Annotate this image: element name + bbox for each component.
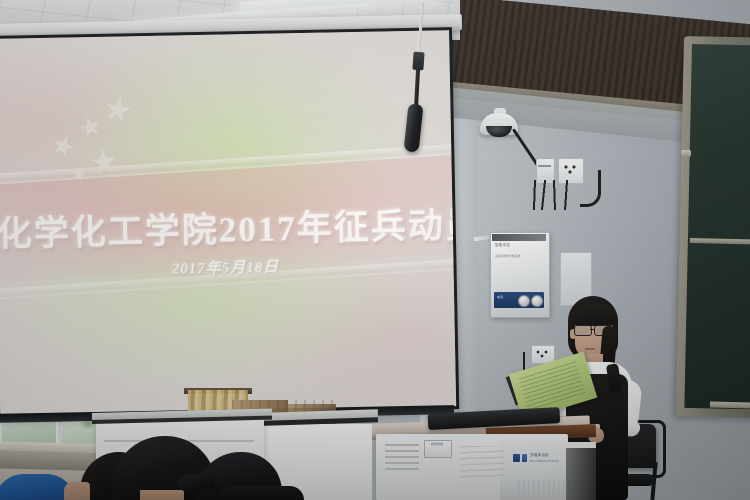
chalk-tray <box>710 401 750 408</box>
panel-header-label: 智能中控 <box>495 243 543 248</box>
photo-scene: 化学化工学院2017年征兵动员会 2017年5月18日 智能中控 多媒体教学控制… <box>0 0 750 500</box>
lectern-vent-left <box>385 444 419 470</box>
speaker-fringe <box>572 304 616 326</box>
handout-text-lines <box>518 361 585 411</box>
junction-box-line <box>538 165 551 167</box>
glasses-lens-left <box>574 325 592 336</box>
lectern-shadow <box>566 448 596 500</box>
lectern-plate-text: 教学终端 <box>425 443 449 447</box>
blackboard-hinge-icon <box>681 150 691 157</box>
lectern-vent-lower <box>518 480 572 498</box>
lectern-logo: 多媒体讲台 MULTIMEDIA PODIUM <box>513 453 565 465</box>
socket-holes-icon <box>564 164 576 174</box>
wire-bundle <box>528 180 586 210</box>
panel-button-label: 电源 <box>497 295 515 299</box>
logo-mark-secondary-icon <box>522 454 527 462</box>
projection-screen: 化学化工学院2017年征兵动员会 2017年5月18日 <box>0 27 459 418</box>
green-blackboard <box>684 44 750 410</box>
lectern-logo-subtext: MULTIMEDIA PODIUM <box>530 460 566 463</box>
projector-glare <box>0 30 456 415</box>
lectern-vent-center <box>460 446 504 480</box>
screen-surface: 化学化工学院2017年征兵动员会 2017年5月18日 <box>0 30 456 415</box>
student-shoulder <box>214 486 304 500</box>
panel-body-label: 多媒体教学控制系统 <box>495 254 543 258</box>
panel-knob-left[interactable] <box>518 295 530 307</box>
lectern-logo-text: 多媒体讲台 <box>530 453 566 458</box>
glasses-bridge <box>590 329 595 330</box>
student-face-left <box>64 482 90 500</box>
panel-header-bar <box>492 234 546 241</box>
student-neck-center <box>140 490 184 500</box>
logo-mark-icon <box>513 454 520 462</box>
